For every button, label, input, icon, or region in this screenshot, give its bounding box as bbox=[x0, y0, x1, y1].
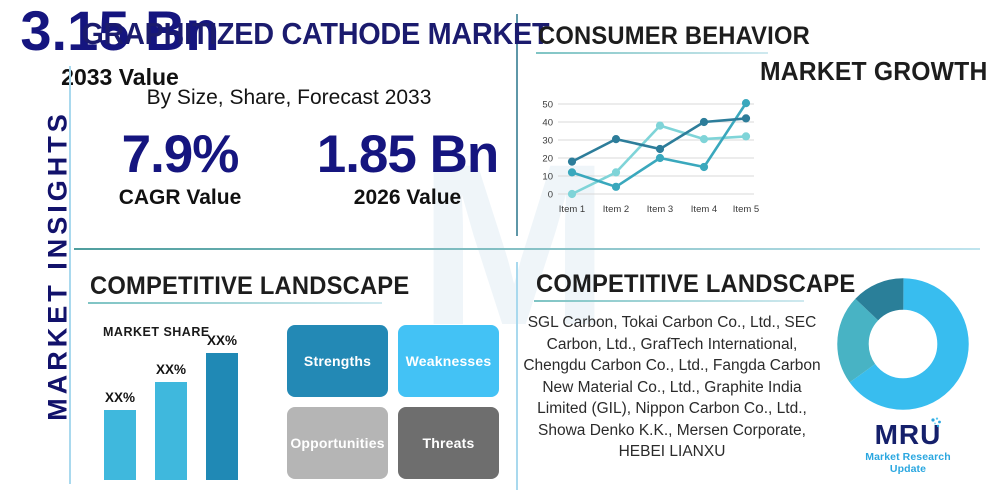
bar-column: XX% bbox=[206, 333, 238, 480]
svg-text:Item 1: Item 1 bbox=[559, 204, 585, 215]
bar-value-label: XX% bbox=[156, 362, 186, 377]
infographic-frame: MARKET INSIGHTS GRAPHITIZED CATHODE MARK… bbox=[0, 0, 1000, 500]
bar-shape bbox=[104, 410, 136, 480]
sparkle-icon bbox=[929, 417, 943, 433]
section-heading-competitive-landscape-right: COMPETITIVE LANDSCAPE bbox=[536, 270, 855, 299]
swot-matrix: Strengths Weaknesses Opportunities Threa… bbox=[287, 325, 499, 480]
chart-x-axis-labels: Item 1 Item 2 Item 3 Item 4 Item 5 bbox=[559, 204, 759, 215]
bar-value-label: XX% bbox=[105, 390, 135, 405]
competitive-landscape-left-underline bbox=[88, 302, 382, 304]
bar-value-label: XX% bbox=[207, 333, 237, 348]
swot-box-opportunities[interactable]: Opportunities bbox=[287, 407, 388, 479]
svg-text:30: 30 bbox=[542, 136, 553, 147]
brand-logo: MRU Market Research Update bbox=[848, 420, 968, 475]
bar-shape bbox=[206, 353, 238, 480]
market-segment-donut-chart bbox=[837, 278, 969, 410]
section-heading-competitive-landscape-left: COMPETITIVE LANDSCAPE bbox=[90, 272, 409, 301]
section-heading-market-growth: MARKET GROWTH bbox=[760, 56, 987, 87]
horizontal-divider bbox=[74, 248, 980, 250]
svg-text:Item 4: Item 4 bbox=[691, 204, 717, 215]
logo-wordmark: MRU bbox=[875, 420, 942, 450]
swot-label: Strengths bbox=[304, 353, 371, 369]
stat-2026: 1.85 Bn 2026 Value bbox=[300, 125, 515, 210]
stat-cagr-value: 7.9% bbox=[80, 125, 280, 185]
stat-2026-value: 1.85 Bn bbox=[300, 125, 515, 185]
competitive-landscape-right-underline bbox=[534, 300, 804, 302]
swot-label: Threats bbox=[423, 435, 475, 451]
svg-text:50: 50 bbox=[542, 100, 553, 111]
stat-2026-caption: 2026 Value bbox=[300, 186, 515, 210]
page-subtitle: By Size, Share, Forecast 2033 bbox=[74, 86, 504, 110]
swot-label: Opportunities bbox=[290, 435, 384, 451]
bar-column: XX% bbox=[155, 362, 187, 480]
page-title: GRAPHITIZED CATHODE MARKET bbox=[81, 16, 490, 52]
svg-text:Item 2: Item 2 bbox=[603, 204, 629, 215]
side-label: MARKET INSIGHTS bbox=[43, 56, 74, 476]
bottom-vertical-divider bbox=[516, 262, 518, 490]
bar-column: XX% bbox=[104, 390, 136, 480]
swot-box-threats[interactable]: Threats bbox=[398, 407, 499, 479]
logo-tagline: Market Research Update bbox=[848, 451, 968, 475]
swot-box-weaknesses[interactable]: Weaknesses bbox=[398, 325, 499, 397]
svg-text:10: 10 bbox=[542, 172, 553, 183]
svg-text:Item 5: Item 5 bbox=[733, 204, 759, 215]
market-share-bar-chart: XX% XX% XX% bbox=[104, 340, 269, 480]
swot-label: Weaknesses bbox=[406, 353, 492, 369]
svg-text:20: 20 bbox=[542, 154, 553, 165]
bar-shape bbox=[155, 382, 187, 480]
svg-text:0: 0 bbox=[548, 190, 553, 201]
consumer-behavior-line-chart: 50 40 30 20 10 0 Item 1 Item 2 Item 3 It… bbox=[532, 96, 772, 220]
section-heading-consumer-behavior: CONSUMER BEHAVIOR bbox=[538, 22, 810, 51]
company-list: SGL Carbon, Tokai Carbon Co., Ltd., SEC … bbox=[522, 312, 822, 463]
svg-text:Item 3: Item 3 bbox=[647, 204, 673, 215]
svg-text:40: 40 bbox=[542, 118, 553, 129]
market-share-label: MARKET SHARE bbox=[103, 325, 210, 339]
consumer-behavior-underline bbox=[536, 52, 768, 54]
stat-cagr-caption: CAGR Value bbox=[80, 186, 280, 210]
swot-box-strengths[interactable]: Strengths bbox=[287, 325, 388, 397]
stat-cagr: 7.9% CAGR Value bbox=[80, 125, 280, 210]
chart-y-axis-labels: 50 40 30 20 10 0 bbox=[542, 100, 553, 201]
